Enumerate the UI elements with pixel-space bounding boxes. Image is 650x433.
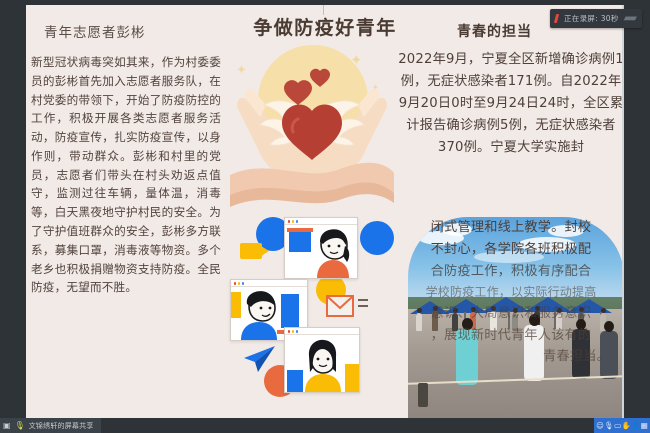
person-icon[interactable]: 👤 [631, 422, 640, 430]
person-avatar-icon [237, 290, 283, 340]
recording-status-badge[interactable]: 正在录屏: 30秒 ▰▰ [550, 9, 642, 28]
overlay-line: ，展现新时代青年人该有的 [398, 325, 624, 347]
window-titlebar [285, 218, 357, 225]
waveform-icon[interactable]: ▰▰ [624, 13, 635, 24]
overlay-line: 不封心，各学院各班积极配 [398, 239, 624, 261]
recording-status-text: 正在录屏: 30秒 [564, 13, 619, 24]
center-illustration-column: ✦ ✦ ✦ [230, 35, 394, 415]
person-avatar-icon [299, 338, 347, 392]
window-top-border [0, 0, 650, 5]
minimize-dot-icon [292, 220, 294, 222]
overlay-line: 意识、大局意识和服务意识 [398, 303, 624, 325]
maximize-dot-icon [296, 220, 298, 222]
share-label: 文锦绣轩的屏幕共享 [29, 421, 94, 431]
maximize-dot-icon [296, 330, 298, 332]
person-avatar-icon [311, 228, 355, 278]
overlay-line: 闭式管理和线上教学。封校 [398, 217, 624, 239]
hands-holding-winged-heart-icon: ✦ ✦ ✦ [230, 35, 394, 211]
screen-share-window: 青年志愿者彭彬 争做防疫好青年 青春的担当 新型冠状病毒突如其来，作为村委委员的… [0, 0, 650, 433]
meeting-toolbar[interactable]: ☺ 🎙 ▭ ✋ 👤 ▦ [594, 418, 650, 433]
right-column-paragraph-top: 2022年9月，宁夏全区新增确诊病例1例，无症状感染者171例。自2022年9月… [398, 49, 624, 159]
minimize-dot-icon [238, 282, 240, 284]
left-column-body: 新型冠状病毒突如其来，作为村委委员的彭彬首先加入志愿者服务队，在村党委的带领下，… [31, 53, 221, 297]
orange-bar-shape [287, 228, 313, 232]
window-titlebar [285, 328, 359, 335]
window-titlebar [231, 280, 307, 287]
video-window[interactable] [284, 217, 358, 279]
blue-square-shape [281, 294, 299, 328]
right-column-overlay-text: 闭式管理和线上教学。封校 不封心，各学院各班积极配 合防疫工作，积极有序配合 学… [398, 217, 624, 368]
yellow-bar-shape [345, 364, 359, 392]
screen-share-indicator[interactable]: ▣ 🎙 文锦绣轩的屏幕共享 [0, 418, 101, 433]
camera-icon[interactable]: ▭ [614, 422, 621, 430]
record-slash-icon [554, 14, 559, 23]
barrier-post [418, 383, 428, 407]
paper-plane-icon [242, 345, 276, 373]
line-decoration [358, 305, 368, 307]
blue-circle-shape [360, 221, 394, 255]
close-dot-icon [288, 220, 290, 222]
emoji-icon[interactable]: ☺ [596, 422, 604, 430]
close-dot-icon [288, 330, 290, 332]
monitor-icon: ▣ [3, 422, 11, 430]
window-left-border [0, 0, 26, 433]
close-dot-icon [234, 282, 236, 284]
heart-hands-svg [230, 35, 394, 211]
microphone-icon[interactable]: 🎙 [604, 422, 614, 430]
video-conference-windows-icon [230, 217, 394, 413]
microphone-icon: 🎙 [15, 422, 25, 430]
blue-square-shape [289, 230, 311, 252]
window-edge-highlight [622, 5, 624, 418]
right-column-title: 青春的担当 [457, 21, 532, 41]
overlay-line: 青春担当。 [398, 346, 624, 368]
minimize-dot-icon [292, 330, 294, 332]
presentation-slide: 青年志愿者彭彬 争做防疫好青年 青春的担当 新型冠状病毒突如其来，作为村委委员的… [26, 5, 624, 418]
line-decoration [358, 299, 368, 301]
video-camera-icon [240, 243, 262, 259]
envelope-icon [326, 295, 354, 317]
overlay-line: 合防疫工作，积极有序配合 [398, 261, 624, 283]
video-window[interactable] [284, 327, 360, 393]
maximize-dot-icon [242, 282, 244, 284]
grid-icon[interactable]: ▦ [641, 422, 648, 430]
window-right-border [624, 0, 650, 433]
overlay-line: 学校防疫工作，以实际行动提高 [398, 283, 624, 303]
hand-raise-icon[interactable]: ✋ [621, 422, 630, 430]
left-text-column: 新型冠状病毒突如其来，作为村委委员的彭彬首先加入志愿者服务队，在村党委的带领下，… [31, 53, 221, 413]
